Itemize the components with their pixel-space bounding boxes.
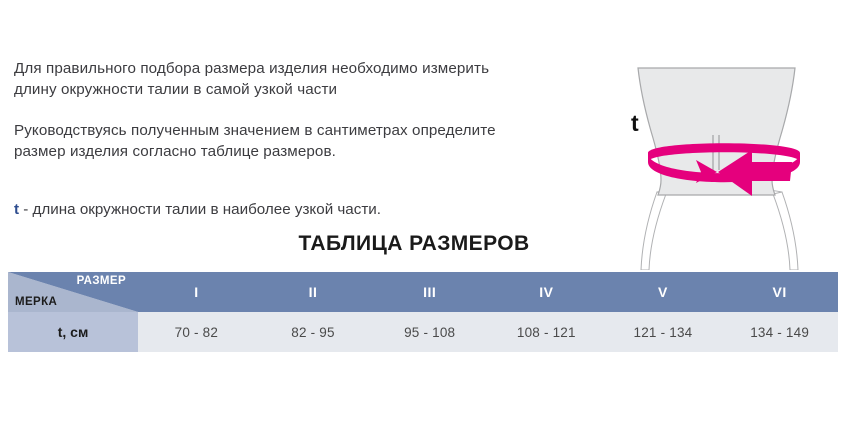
value-cell-6: 134 - 149 (721, 312, 838, 352)
value-cell-1: 70 - 82 (138, 312, 255, 352)
t-measurement-label: t (631, 112, 639, 135)
corner-measure-label: МЕРКА (15, 296, 57, 308)
table-row: t, см 70 - 82 82 - 95 95 - 108 108 - 121… (8, 312, 838, 352)
table-corner-cell: РАЗМЕР МЕРКА (8, 272, 138, 312)
instruction-paragraph-2: Руководствуясь полученным значением в са… (14, 120, 514, 162)
corner-size-label: РАЗМЕР (77, 275, 127, 287)
size-header-6: VI (721, 272, 838, 312)
page-title: ТАБЛИЦА РАЗМЕРОВ (0, 232, 846, 256)
legs-outline-shape (641, 192, 666, 270)
instructions-block: Для правильного подбора размера изделия … (14, 58, 514, 162)
page-title-text: ТАБЛИЦА РАЗМЕРОВ (298, 232, 529, 256)
size-header-2: II (255, 272, 372, 312)
size-header-1: I (138, 272, 255, 312)
value-cell-2: 82 - 95 (255, 312, 372, 352)
size-header-5: V (605, 272, 722, 312)
legend-line: t - длина окружности талии в наиболее уз… (14, 199, 381, 220)
size-header-3: III (371, 272, 488, 312)
legend-text: - длина окружности талии в наиболее узко… (19, 201, 381, 218)
legs-outline-shape-right (773, 192, 798, 270)
size-table: РАЗМЕР МЕРКА I II III IV V VI t, см 70 -… (8, 272, 838, 352)
value-cell-5: 121 - 134 (605, 312, 722, 352)
value-cell-4: 108 - 121 (488, 312, 605, 352)
row-label-cell: t, см (8, 312, 138, 352)
table-header-row: РАЗМЕР МЕРКА I II III IV V VI (8, 272, 838, 312)
value-cell-3: 95 - 108 (371, 312, 488, 352)
size-header-4: IV (488, 272, 605, 312)
instruction-paragraph-1: Для правильного подбора размера изделия … (14, 58, 514, 100)
